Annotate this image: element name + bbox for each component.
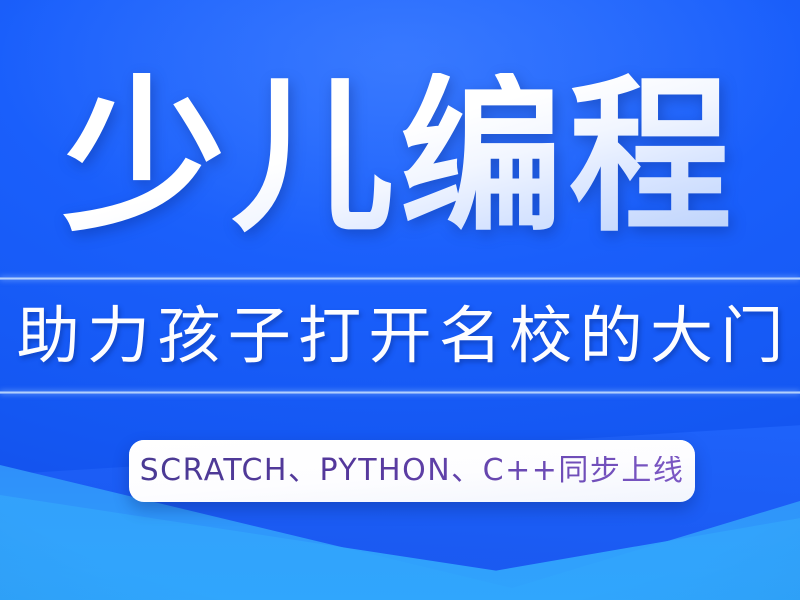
course-list-badge: SCRATCH、PYTHON、C++同步上线 xyxy=(129,440,695,502)
course-list-badge-text: SCRATCH、PYTHON、C++同步上线 xyxy=(140,456,685,486)
subtitle-container: 助力孩子打开名校的大门 xyxy=(0,280,800,391)
promo-poster: 少儿编程 助力孩子打开名校的大门 SCRATCH、PYTHON、C++同步上线 xyxy=(0,0,800,600)
headline-container: 少儿编程 xyxy=(0,62,800,252)
divider-rule-bottom xyxy=(0,391,800,394)
subtitle-text: 助力孩子打开名校的大门 xyxy=(17,305,791,367)
headline-text: 少儿编程 xyxy=(62,73,737,241)
